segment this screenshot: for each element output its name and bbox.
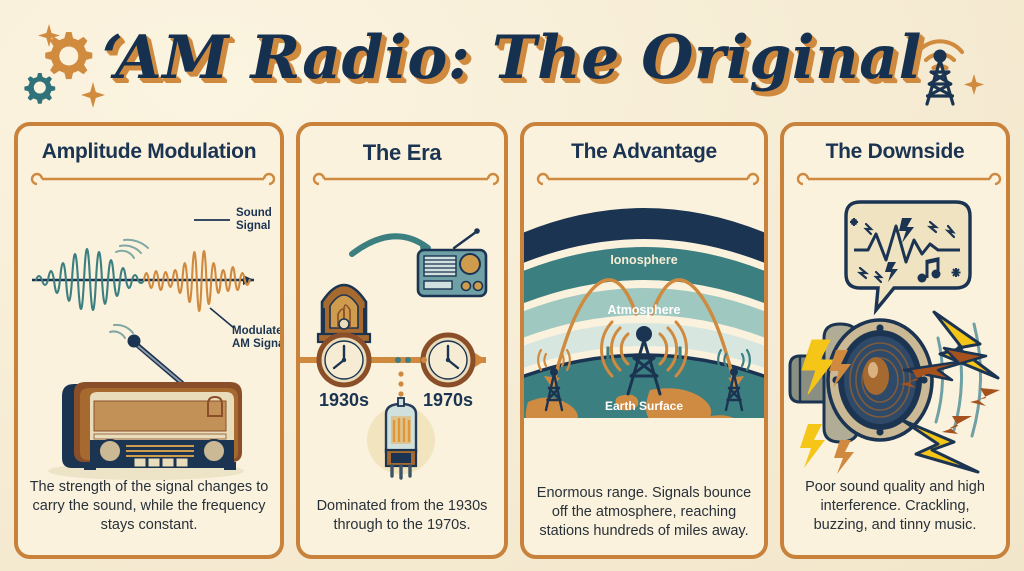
radio-knob-icon bbox=[203, 440, 225, 462]
panel-caption: Enormous range. Signals bounce off the a… bbox=[534, 484, 754, 541]
year-label-1970s: 1970s bbox=[423, 390, 473, 410]
lightning-bolt-icon bbox=[942, 416, 972, 434]
panel-title: The Era bbox=[300, 140, 504, 166]
panel-title: The Advantage bbox=[524, 140, 764, 164]
svg-text:AM Signal: AM Signal bbox=[232, 338, 284, 350]
panel-amplitude-modulation[interactable]: Amplitude Modulation bbox=[14, 122, 284, 559]
flourish-divider bbox=[796, 174, 994, 188]
flourish-divider bbox=[536, 174, 752, 188]
transistor-radio-icon bbox=[418, 228, 486, 296]
header: ‘AM Radio: The Original bbox=[0, 0, 1024, 118]
svg-text:Modulated: Modulated bbox=[232, 325, 284, 337]
radio-knob-icon bbox=[99, 440, 121, 462]
sparkle-icon bbox=[964, 74, 984, 95]
panel-the-era[interactable]: The Era bbox=[296, 122, 508, 559]
panel-caption: Dominated from the 1930s through to the … bbox=[310, 497, 494, 535]
infographic-canvas: ‘AM Radio: The Original bbox=[0, 0, 1024, 571]
panel-caption: Poor sound quality and high interference… bbox=[794, 478, 996, 535]
header-right-ornaments bbox=[896, 16, 1016, 108]
clock-icon bbox=[319, 335, 369, 385]
panel-row: Amplitude Modulation bbox=[0, 118, 1024, 571]
panel-title: Amplitude Modulation bbox=[18, 140, 280, 164]
the-advantage-art: Ionosphere Atmosphere Earth Surface bbox=[524, 188, 764, 459]
panel-caption: The strength of the signal changes to ca… bbox=[28, 478, 270, 535]
signal-arc-icon bbox=[116, 240, 148, 258]
flourish-divider bbox=[30, 174, 268, 188]
lightning-bolt-icon bbox=[800, 424, 825, 468]
panel-the-advantage[interactable]: The Advantage bbox=[520, 122, 768, 559]
noise-speech-bubble-icon bbox=[846, 202, 970, 310]
svg-text:Sound: Sound bbox=[236, 207, 272, 219]
vintage-radio-icon bbox=[48, 382, 244, 480]
layer-label-atmosphere: Atmosphere bbox=[608, 303, 681, 317]
lightning-bolt-icon bbox=[902, 420, 978, 472]
panel-the-downside[interactable]: The Downside bbox=[780, 122, 1010, 559]
svg-text:Signal: Signal bbox=[236, 220, 271, 232]
lightning-bolt-icon bbox=[970, 388, 1000, 406]
label-sound-signal: Sound Signal bbox=[194, 207, 272, 232]
lightning-bolt-icon bbox=[834, 440, 854, 474]
layer-label-ionosphere: Ionosphere bbox=[610, 253, 677, 267]
the-downside-art bbox=[784, 188, 1006, 469]
year-label-1930s: 1930s bbox=[319, 390, 369, 410]
label-modulated-am-signal: Modulated AM Signal bbox=[210, 308, 284, 350]
clock-icon bbox=[423, 335, 473, 385]
the-era-art: 1930s 1970s bbox=[300, 188, 504, 469]
signal-arc-icon bbox=[110, 325, 133, 338]
panel-title: The Downside bbox=[784, 140, 1006, 164]
amplitude-modulation-art: Sound Signal Modulated AM Signal bbox=[18, 188, 280, 469]
flourish-divider bbox=[312, 174, 492, 188]
layer-label-earth-surface: Earth Surface bbox=[605, 399, 683, 413]
vacuum-tube-icon bbox=[367, 398, 435, 478]
page-title: ‘AM Radio: The Original bbox=[0, 14, 1024, 102]
